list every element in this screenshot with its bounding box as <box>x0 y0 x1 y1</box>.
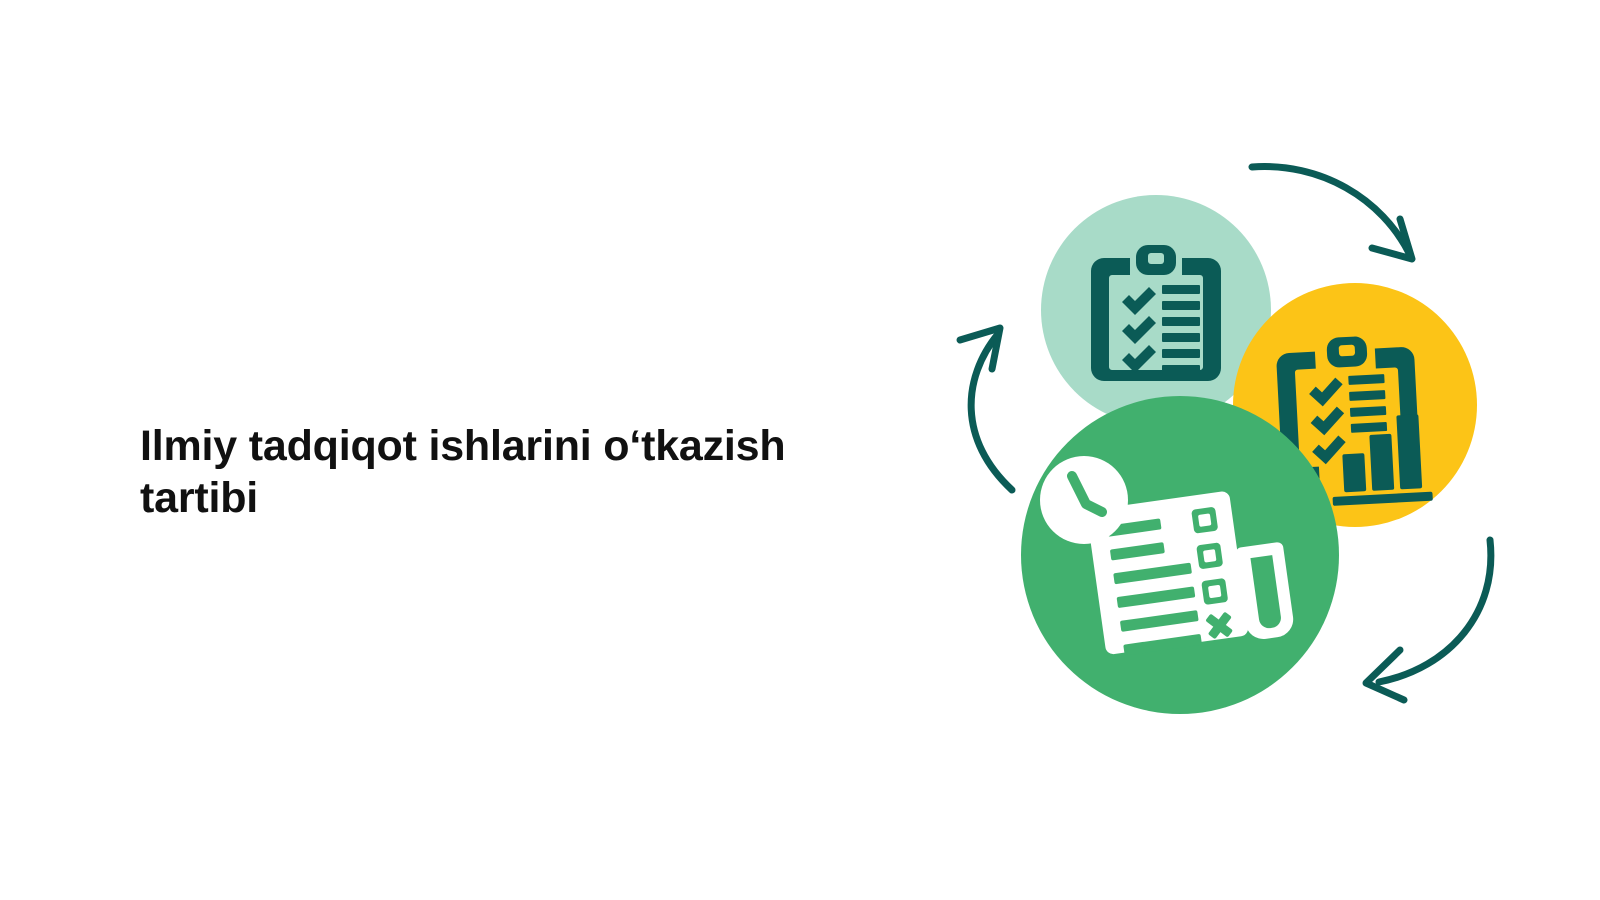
slide-canvas: Ilmiy tadqiqot ishlarini o‘tkazish tarti… <box>0 0 1600 900</box>
arrow-bottom-right-group <box>1366 540 1491 700</box>
illustration-research-cycle <box>930 120 1530 740</box>
title-block: Ilmiy tadqiqot ishlarini o‘tkazish tarti… <box>140 420 900 525</box>
circle-green-group <box>1021 396 1339 714</box>
curved-arrow-bottom-left <box>1379 540 1491 682</box>
arrow-left-group <box>960 328 1012 490</box>
page-title: Ilmiy tadqiqot ishlarini o‘tkazish tarti… <box>140 420 900 525</box>
clock-icon <box>1040 456 1128 544</box>
curved-arrow-top-right <box>1252 167 1410 255</box>
arrow-top-group <box>1252 167 1412 259</box>
